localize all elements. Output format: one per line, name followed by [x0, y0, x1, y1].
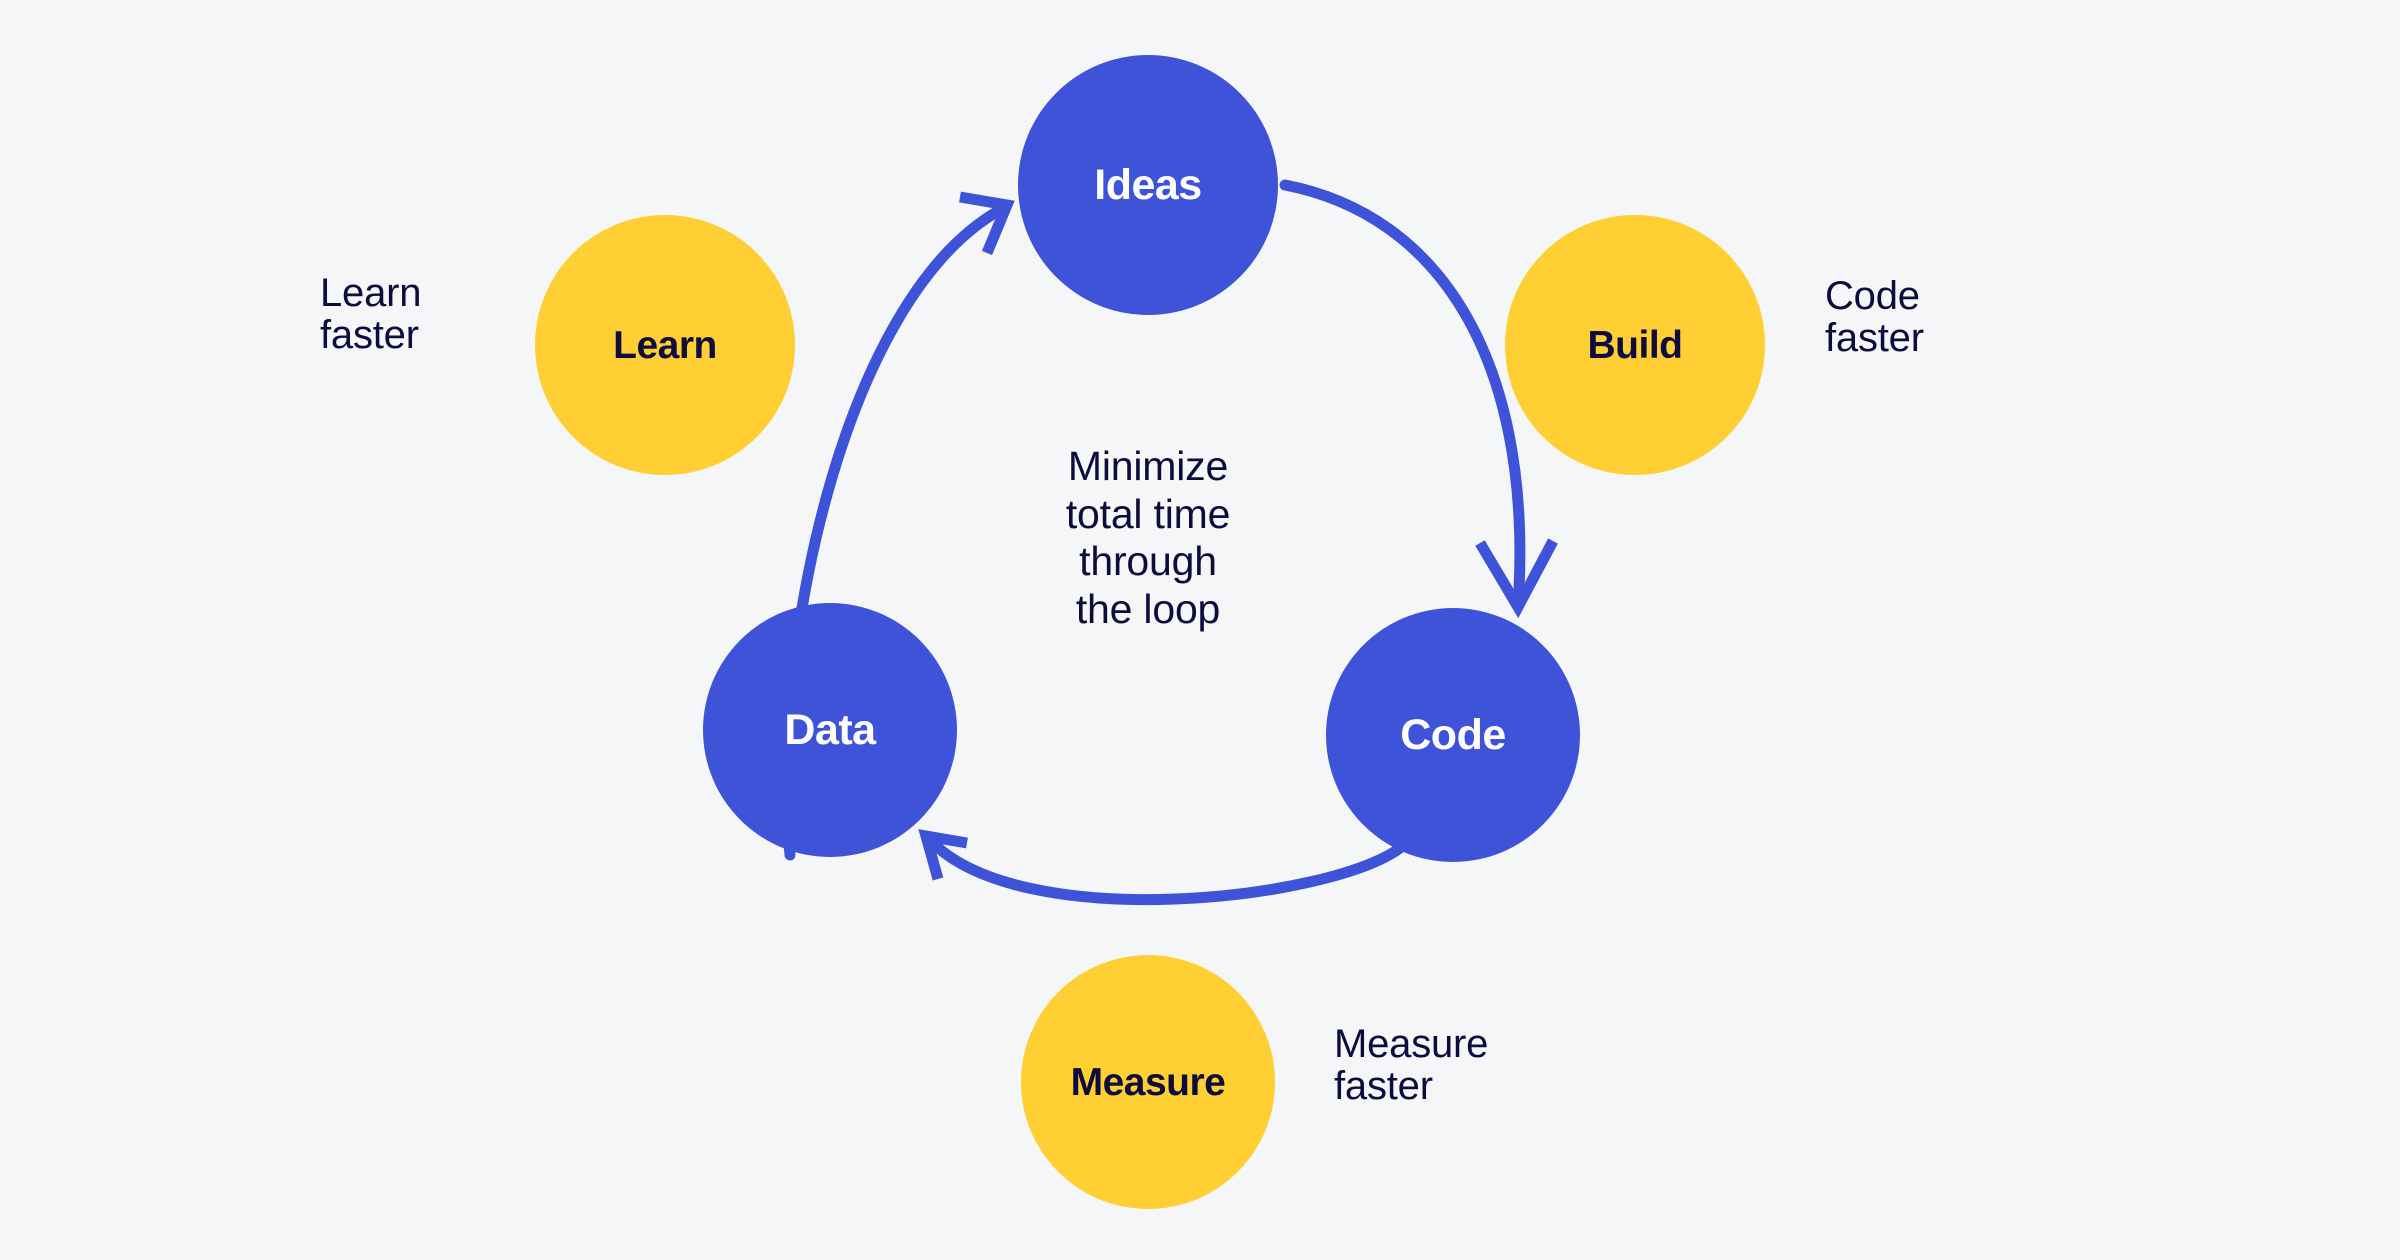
node-data[interactable]: Data	[703, 603, 957, 857]
arrow-code-to-data-path	[930, 840, 1400, 900]
node-build[interactable]: Build	[1505, 215, 1765, 475]
node-build-label: Build	[1588, 326, 1683, 365]
node-data-label: Data	[784, 709, 875, 752]
center-caption-line-4: the loop	[948, 586, 1348, 634]
caption-measure-faster: Measure faster	[1334, 1023, 1488, 1108]
caption-learn-faster: Learn faster	[320, 272, 421, 357]
diagram-canvas: Ideas Data Code Learn Build Measure Lear…	[0, 0, 2400, 1260]
center-caption-line-3: through	[948, 538, 1348, 586]
center-caption-line-2: total time	[948, 491, 1348, 539]
node-code-label: Code	[1400, 714, 1506, 757]
node-measure[interactable]: Measure	[1021, 955, 1275, 1209]
node-learn-label: Learn	[613, 326, 717, 365]
arrow-code-to-data	[926, 836, 1400, 900]
node-ideas-label: Ideas	[1094, 164, 1201, 207]
node-learn[interactable]: Learn	[535, 215, 795, 475]
node-measure-label: Measure	[1071, 1063, 1226, 1102]
caption-code-faster: Code faster	[1825, 275, 1924, 360]
node-ideas[interactable]: Ideas	[1018, 55, 1278, 315]
center-caption: Minimize total time through the loop	[948, 443, 1348, 633]
node-code[interactable]: Code	[1326, 608, 1580, 862]
center-caption-line-1: Minimize	[948, 443, 1348, 491]
